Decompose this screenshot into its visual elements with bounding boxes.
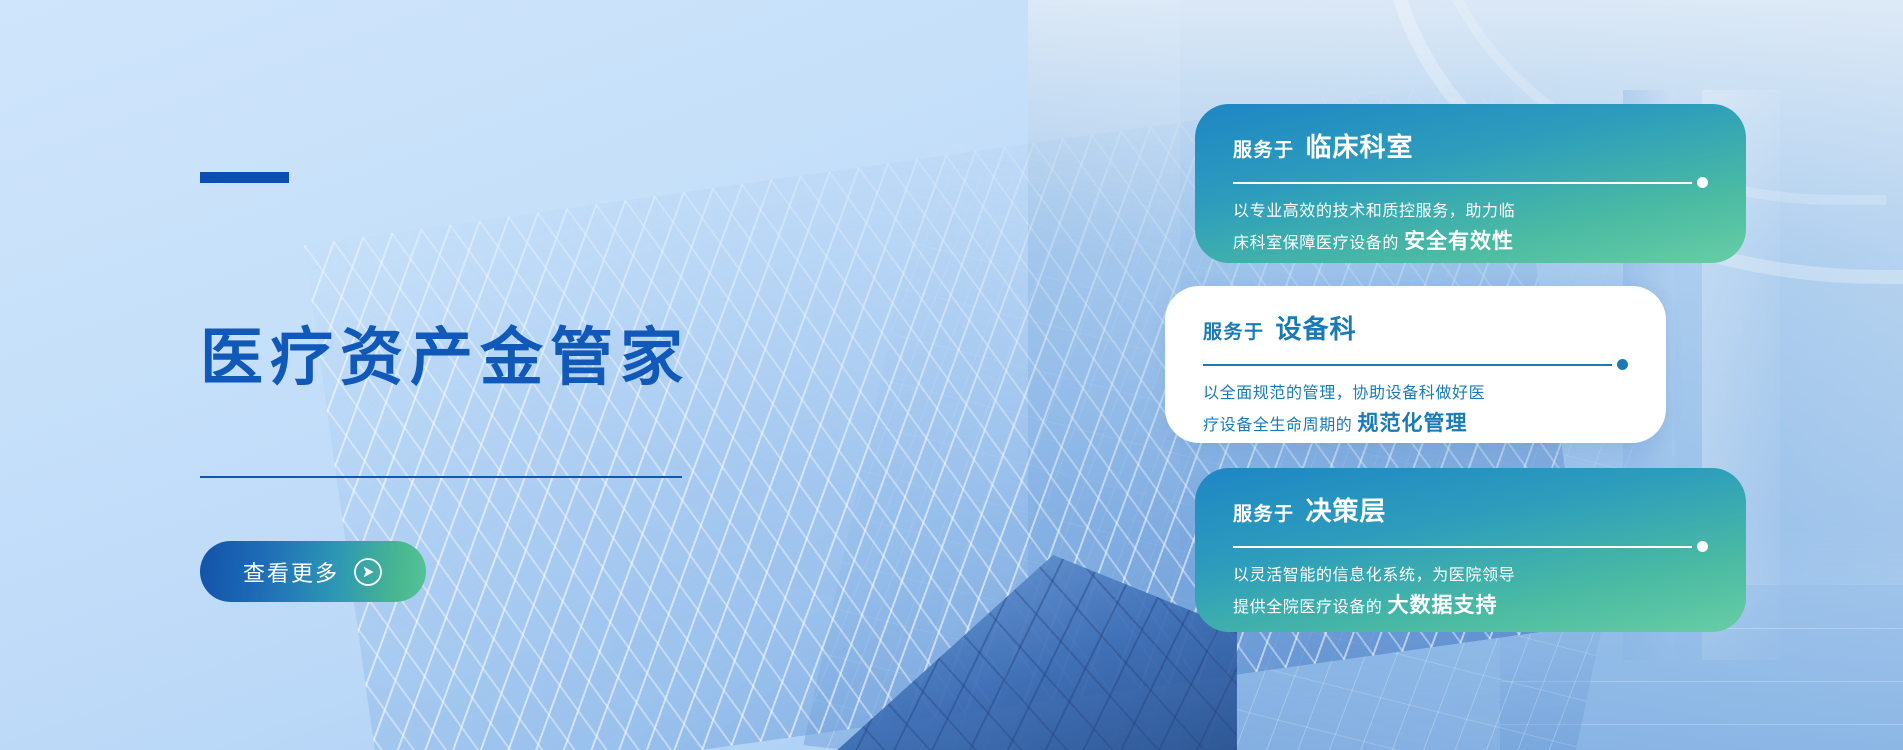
card-prefix: 服务于 — [1233, 141, 1295, 160]
card-body-line2: 提供全院医疗设备的 — [1233, 599, 1382, 616]
page-title: 医疗资产金管家 — [200, 327, 690, 390]
card-emphasis: 大数据支持 — [1387, 594, 1497, 617]
card-divider-dot — [1617, 359, 1628, 370]
card-body-line1: 以全面规范的管理，协助设备科做好医 — [1203, 385, 1485, 402]
card-prefix: 服务于 — [1233, 505, 1295, 524]
card-divider — [1203, 359, 1628, 370]
accent-dash-mark — [200, 172, 289, 183]
card-body-line2: 床科室保障医疗设备的 — [1233, 235, 1399, 252]
card-body: 以专业高效的技术和质控服务，助力临 床科室保障医疗设备的 安全有效性 — [1233, 199, 1708, 259]
view-more-label: 查看更多 — [243, 556, 339, 588]
card-divider-line — [1203, 364, 1612, 366]
card-subject: 设备科 — [1276, 316, 1357, 342]
hero-banner: 医疗资产金管家 查看更多 服务于 临床科室 以专业高效的技术和质控服务，助力临 … — [0, 0, 1903, 750]
card-body: 以全面规范的管理，协助设备科做好医 疗设备全生命周期的 规范化管理 — [1203, 381, 1628, 441]
card-divider-line — [1233, 182, 1692, 184]
card-divider-line — [1233, 546, 1692, 548]
card-heading: 服务于 设备科 — [1203, 316, 1628, 342]
card-body-line1: 以灵活智能的信息化系统，为医院领导 — [1233, 567, 1515, 584]
service-card-equipment-dept[interactable]: 服务于 设备科 以全面规范的管理，协助设备科做好医 疗设备全生命周期的 规范化管… — [1165, 286, 1666, 443]
card-heading: 服务于 决策层 — [1233, 498, 1708, 524]
card-divider-dot — [1697, 177, 1708, 188]
card-body-line2: 疗设备全生命周期的 — [1203, 417, 1352, 434]
card-emphasis: 安全有效性 — [1404, 230, 1514, 253]
card-body: 以灵活智能的信息化系统，为医院领导 提供全院医疗设备的 大数据支持 — [1233, 563, 1708, 623]
hero-divider-rule — [200, 476, 682, 478]
card-subject: 临床科室 — [1306, 134, 1414, 160]
card-divider-dot — [1697, 541, 1708, 552]
card-heading: 服务于 临床科室 — [1233, 134, 1708, 160]
card-emphasis: 规范化管理 — [1357, 412, 1467, 435]
hero-text-column: 医疗资产金管家 查看更多 — [200, 0, 720, 750]
service-card-clinical[interactable]: 服务于 临床科室 以专业高效的技术和质控服务，助力临 床科室保障医疗设备的 安全… — [1195, 104, 1746, 263]
card-prefix: 服务于 — [1203, 323, 1265, 342]
card-subject: 决策层 — [1306, 498, 1387, 524]
arrow-right-circle-icon — [353, 557, 383, 587]
card-divider — [1233, 541, 1708, 552]
card-divider — [1233, 177, 1708, 188]
service-card-decision-makers[interactable]: 服务于 决策层 以灵活智能的信息化系统，为医院领导 提供全院医疗设备的 大数据支… — [1195, 468, 1746, 632]
card-body-line1: 以专业高效的技术和质控服务，助力临 — [1233, 203, 1515, 220]
view-more-button[interactable]: 查看更多 — [200, 541, 426, 602]
